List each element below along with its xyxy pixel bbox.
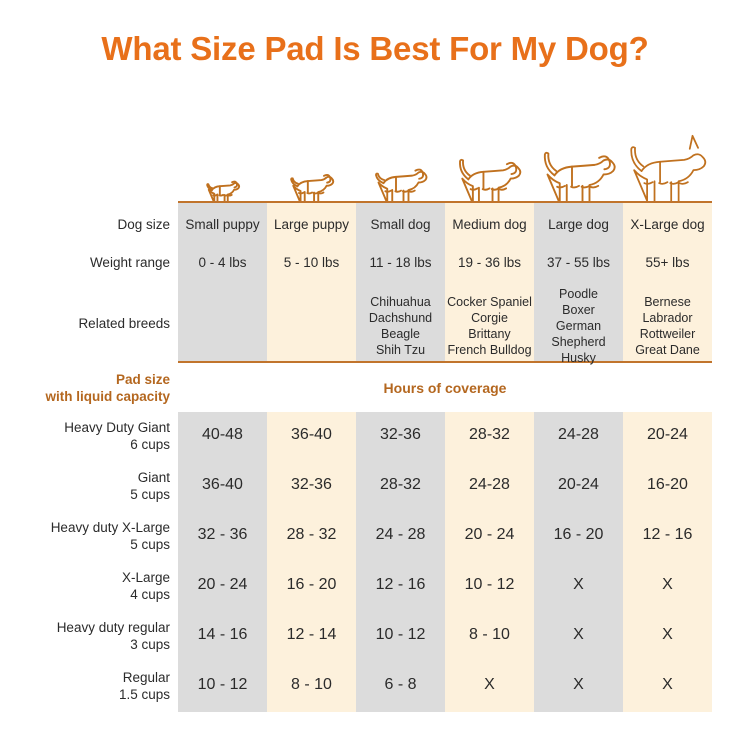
data-cell-r3-c5: X xyxy=(623,576,712,593)
pad-row-label-4: Heavy duty regular3 cups xyxy=(10,619,170,653)
cell-weight-range-2-line: 11 - 18 lbs xyxy=(356,254,445,271)
data-cell-r2-c2: 24 - 28 xyxy=(356,526,445,543)
pad-row-label-1: Giant5 cups xyxy=(10,469,170,503)
data-cell-r1-c5: 16-20 xyxy=(623,476,712,493)
cell-weight-range-3: 19 - 36 lbs xyxy=(445,254,534,271)
cell-dog-size-5: X-Large dog xyxy=(623,216,712,233)
pad-name-4: Heavy duty regular xyxy=(10,619,170,636)
cell-breeds-4-line: Shepherd xyxy=(534,334,623,350)
data-cell-r4-c4: X xyxy=(534,626,623,643)
hours-of-coverage-header: Hours of coverage xyxy=(178,380,712,396)
pad-capacity-4: 3 cups xyxy=(10,636,170,653)
cell-dog-size-3-line: Medium dog xyxy=(445,216,534,233)
column-band-0 xyxy=(178,412,267,712)
row-label-related-breeds: Related breeds xyxy=(10,315,170,332)
column-band-2 xyxy=(356,412,445,712)
pad-row-label-2: Heavy duty X-Large5 cups xyxy=(10,519,170,553)
data-cell-r5-c0: 10 - 12 xyxy=(178,676,267,693)
cell-weight-range-1-line: 5 - 10 lbs xyxy=(267,254,356,271)
row-label-dog-size: Dog size xyxy=(10,216,170,233)
pad-name-5: Regular xyxy=(10,669,170,686)
cell-weight-range-0: 0 - 4 lbs xyxy=(178,254,267,271)
pad-name-1: Giant xyxy=(10,469,170,486)
cell-dog-size-1-line: Large puppy xyxy=(267,216,356,233)
pad-size-header: Pad size with liquid capacity xyxy=(10,371,170,405)
column-band-1 xyxy=(267,412,356,712)
data-cell-r5-c2: 6 - 8 xyxy=(356,676,445,693)
large-dog-icon xyxy=(534,110,623,202)
cell-dog-size-0: Small puppy xyxy=(178,216,267,233)
cell-breeds-5-line: Great Dane xyxy=(623,342,712,358)
data-cell-r5-c3: X xyxy=(445,676,534,693)
data-cell-r3-c4: X xyxy=(534,576,623,593)
column-band-3 xyxy=(445,412,534,712)
cell-breeds-3-line: French Bulldog xyxy=(445,342,534,358)
data-cell-r2-c1: 28 - 32 xyxy=(267,526,356,543)
cell-weight-range-3-line: 19 - 36 lbs xyxy=(445,254,534,271)
cell-dog-size-0-line: Small puppy xyxy=(178,216,267,233)
pad-capacity-1: 5 cups xyxy=(10,486,170,503)
data-cell-r3-c2: 12 - 16 xyxy=(356,576,445,593)
cell-breeds-3-line: Brittany xyxy=(445,326,534,342)
data-cell-r4-c1: 12 - 14 xyxy=(267,626,356,643)
data-cell-r1-c0: 36-40 xyxy=(178,476,267,493)
column-bands-lower xyxy=(178,412,712,712)
cell-breeds-2-line: Dachshund xyxy=(356,310,445,326)
dog-silhouette-row xyxy=(178,110,712,202)
cell-weight-range-2: 11 - 18 lbs xyxy=(356,254,445,271)
cell-dog-size-1: Large puppy xyxy=(267,216,356,233)
divider-top xyxy=(178,201,712,203)
large-puppy-icon xyxy=(267,110,356,202)
cell-breeds-5: BerneseLabradorRottweilerGreat Dane xyxy=(623,294,712,358)
column-band-5 xyxy=(623,412,712,712)
cell-weight-range-1: 5 - 10 lbs xyxy=(267,254,356,271)
cell-dog-size-5-line: X-Large dog xyxy=(623,216,712,233)
page-title: What Size Pad Is Best For My Dog? xyxy=(0,30,750,68)
cell-breeds-4-line: Boxer xyxy=(534,302,623,318)
data-cell-r5-c5: X xyxy=(623,676,712,693)
pad-row-label-0: Heavy Duty Giant6 cups xyxy=(10,419,170,453)
medium-dog-icon xyxy=(445,110,534,202)
pad-row-label-5: Regular1.5 cups xyxy=(10,669,170,703)
cell-weight-range-0-line: 0 - 4 lbs xyxy=(178,254,267,271)
cell-breeds-3-line: Cocker Spaniel xyxy=(445,294,534,310)
data-cell-r3-c0: 20 - 24 xyxy=(178,576,267,593)
data-cell-r0-c2: 32-36 xyxy=(356,426,445,443)
pad-capacity-2: 5 cups xyxy=(10,536,170,553)
pad-row-label-3: X-Large4 cups xyxy=(10,569,170,603)
data-cell-r2-c0: 32 - 36 xyxy=(178,526,267,543)
small-puppy-icon xyxy=(178,110,267,202)
data-cell-r0-c5: 20-24 xyxy=(623,426,712,443)
data-cell-r5-c1: 8 - 10 xyxy=(267,676,356,693)
cell-dog-size-2: Small dog xyxy=(356,216,445,233)
cell-breeds-2-line: Shih Tzu xyxy=(356,342,445,358)
data-cell-r0-c1: 36-40 xyxy=(267,426,356,443)
cell-breeds-2: ChihuahuaDachshundBeagleShih Tzu xyxy=(356,294,445,358)
cell-breeds-3: Cocker SpanielCorgieBrittanyFrench Bulld… xyxy=(445,294,534,358)
data-cell-r0-c4: 24-28 xyxy=(534,426,623,443)
pad-capacity-0: 6 cups xyxy=(10,436,170,453)
cell-breeds-5-line: Bernese xyxy=(623,294,712,310)
row-label-weight-range: Weight range xyxy=(10,254,170,271)
cell-breeds-4-line: Poodle xyxy=(534,286,623,302)
cell-breeds-2-line: Chihuahua xyxy=(356,294,445,310)
data-cell-r2-c5: 12 - 16 xyxy=(623,526,712,543)
cell-breeds-3-line: Corgie xyxy=(445,310,534,326)
data-cell-r3-c1: 16 - 20 xyxy=(267,576,356,593)
cell-dog-size-2-line: Small dog xyxy=(356,216,445,233)
data-cell-r0-c3: 28-32 xyxy=(445,426,534,443)
column-band-4 xyxy=(534,412,623,712)
data-cell-r1-c2: 28-32 xyxy=(356,476,445,493)
data-cell-r0-c0: 40-48 xyxy=(178,426,267,443)
data-cell-r1-c4: 20-24 xyxy=(534,476,623,493)
pad-capacity-5: 1.5 cups xyxy=(10,686,170,703)
cell-weight-range-4: 37 - 55 lbs xyxy=(534,254,623,271)
pad-size-line1: Pad size xyxy=(10,371,170,388)
cell-breeds-4: PoodleBoxerGermanShepherdHusky xyxy=(534,286,623,366)
pad-capacity-3: 4 cups xyxy=(10,586,170,603)
data-cell-r4-c0: 14 - 16 xyxy=(178,626,267,643)
xlarge-dog-icon xyxy=(623,110,712,202)
cell-weight-range-5: 55+ lbs xyxy=(623,254,712,271)
cell-breeds-4-line: Husky xyxy=(534,350,623,366)
cell-breeds-5-line: Rottweiler xyxy=(623,326,712,342)
cell-breeds-4-line: German xyxy=(534,318,623,334)
pad-name-3: X-Large xyxy=(10,569,170,586)
data-cell-r2-c4: 16 - 20 xyxy=(534,526,623,543)
data-cell-r4-c5: X xyxy=(623,626,712,643)
cell-breeds-5-line: Labrador xyxy=(623,310,712,326)
data-cell-r1-c3: 24-28 xyxy=(445,476,534,493)
cell-dog-size-4-line: Large dog xyxy=(534,216,623,233)
small-dog-icon xyxy=(356,110,445,202)
pad-size-line2: with liquid capacity xyxy=(10,388,170,405)
cell-weight-range-5-line: 55+ lbs xyxy=(623,254,712,271)
cell-dog-size-3: Medium dog xyxy=(445,216,534,233)
pad-name-0: Heavy Duty Giant xyxy=(10,419,170,436)
divider-bottom xyxy=(178,361,712,363)
data-cell-r2-c3: 20 - 24 xyxy=(445,526,534,543)
pad-name-2: Heavy duty X-Large xyxy=(10,519,170,536)
infographic-page: What Size Pad Is Best For My Dog? xyxy=(0,0,750,750)
data-cell-r4-c2: 10 - 12 xyxy=(356,626,445,643)
cell-breeds-2-line: Beagle xyxy=(356,326,445,342)
cell-weight-range-4-line: 37 - 55 lbs xyxy=(534,254,623,271)
data-cell-r3-c3: 10 - 12 xyxy=(445,576,534,593)
data-cell-r4-c3: 8 - 10 xyxy=(445,626,534,643)
cell-dog-size-4: Large dog xyxy=(534,216,623,233)
data-cell-r1-c1: 32-36 xyxy=(267,476,356,493)
data-cell-r5-c4: X xyxy=(534,676,623,693)
